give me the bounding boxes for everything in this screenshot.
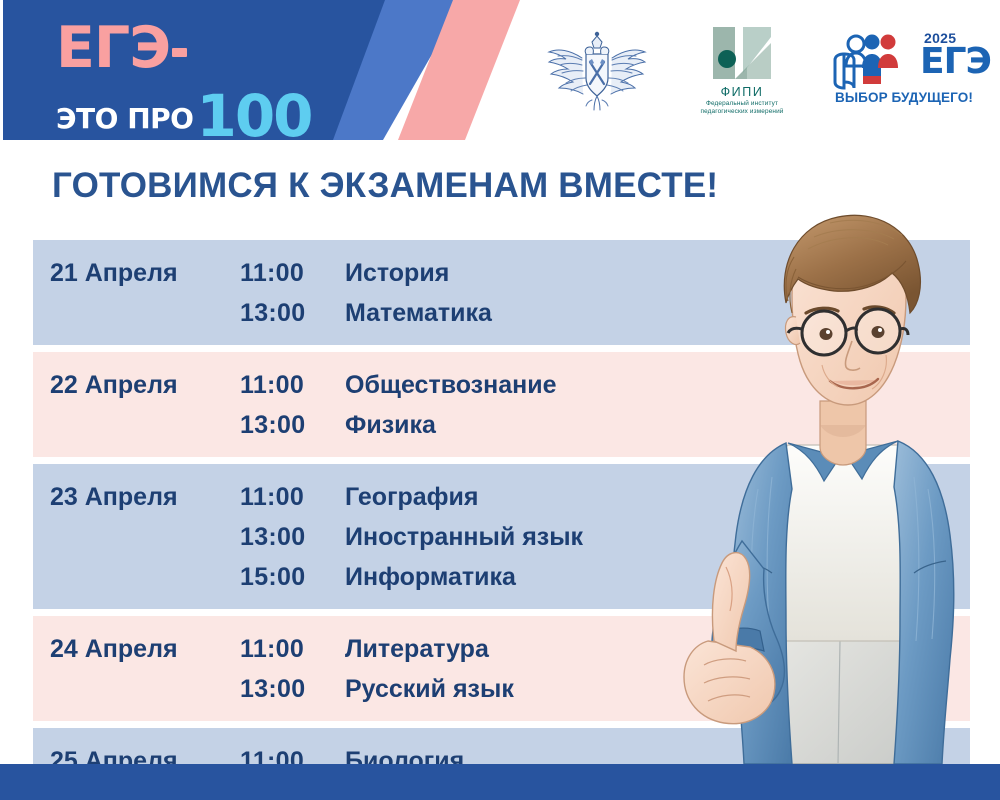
session-subject: Обществознание — [345, 365, 557, 405]
schedule-session: 11:00География — [240, 477, 970, 517]
schedule-table: 21 Апреля11:00История13:00Математика22 А… — [33, 240, 970, 800]
schedule-row-inner: 23 Апреля11:00География13:00Иностранный … — [33, 477, 970, 597]
schedule-session-list: 11:00Обществознание13:00Физика — [240, 365, 970, 445]
schedule-row: 21 Апреля11:00История13:00Математика — [33, 240, 970, 345]
schedule-session: 11:00История — [240, 253, 970, 293]
session-subject: Литература — [345, 629, 489, 669]
schedule-session-list: 11:00История13:00Математика — [240, 253, 970, 333]
session-subject: Математика — [345, 293, 492, 333]
brand-lockup: ЕГЭ ЭТО ПРО 100 — [56, 22, 316, 118]
fipi-subtitle-text: Федеральный институт педагогических изме… — [690, 100, 794, 116]
header-logo-group: ФИПИ Федеральный институт педагогических… — [542, 24, 982, 116]
rosobrnadzor-logo — [542, 28, 652, 112]
poster-header: ЕГЭ ЭТО ПРО 100 — [3, 0, 1000, 140]
schedule-session-list: 11:00Литература13:00Русский язык — [240, 629, 970, 709]
schedule-row: 24 Апреля11:00Литература13:00Русский язы… — [33, 616, 970, 721]
session-time: 13:00 — [240, 293, 345, 333]
brand-etopro-text: ЭТО ПРО — [56, 102, 193, 135]
session-time: 13:00 — [240, 405, 345, 445]
ege-2025-word-text: ЕГЭ — [920, 41, 991, 82]
schedule-session: 11:00Литература — [240, 629, 970, 669]
brand-top-line: ЕГЭ — [56, 22, 187, 74]
footer-bar — [0, 764, 1000, 800]
session-time: 11:00 — [240, 629, 345, 669]
schedule-row-inner: 22 Апреля11:00Обществознание13:00Физика — [33, 365, 970, 445]
session-subject: Физика — [345, 405, 436, 445]
schedule-session: 11:00Обществознание — [240, 365, 970, 405]
schedule-session: 13:00Русский язык — [240, 669, 970, 709]
schedule-session: 15:00Информатика — [240, 557, 970, 597]
ege-2025-logo: 2025 ЕГЭ ВЫБОР БУДУЩЕГО! — [832, 28, 982, 112]
session-subject: Русский язык — [345, 669, 514, 709]
rosobrnadzor-emblem-icon — [542, 99, 652, 116]
session-subject: Иностранный язык — [345, 517, 583, 557]
schedule-session: 13:00Математика — [240, 293, 970, 333]
page-title: ГОТОВИМСЯ К ЭКЗАМЕНАМ ВМЕСТЕ! — [52, 166, 718, 206]
session-time: 15:00 — [240, 557, 345, 597]
schedule-session: 13:00Иностранный язык — [240, 517, 970, 557]
schedule-row: 23 Апреля11:00География13:00Иностранный … — [33, 464, 970, 609]
fipi-title-text: ФИПИ — [690, 85, 794, 99]
session-time: 13:00 — [240, 517, 345, 557]
fipi-logo: ФИПИ Федеральный институт педагогических… — [690, 27, 794, 113]
schedule-date: 22 Апреля — [50, 365, 240, 405]
session-time: 11:00 — [240, 477, 345, 517]
schedule-row-inner: 24 Апреля11:00Литература13:00Русский язы… — [33, 629, 970, 709]
brand-dash-icon — [172, 48, 187, 57]
session-time: 13:00 — [240, 669, 345, 709]
schedule-date: 21 Апреля — [50, 253, 240, 293]
session-time: 11:00 — [240, 365, 345, 405]
poster-root: ЕГЭ ЭТО ПРО 100 — [0, 0, 1000, 800]
session-subject: История — [345, 253, 449, 293]
schedule-row-inner: 21 Апреля11:00История13:00Математика — [33, 253, 970, 333]
brand-hundred-text: 100 — [196, 82, 311, 140]
brand-ege-text: ЕГЭ — [56, 22, 170, 74]
schedule-row: 22 Апреля11:00Обществознание13:00Физика — [33, 352, 970, 457]
schedule-date: 24 Апреля — [50, 629, 240, 669]
schedule-session: 13:00Физика — [240, 405, 970, 445]
session-time: 11:00 — [240, 253, 345, 293]
schedule-session-list: 11:00География13:00Иностранный язык15:00… — [240, 477, 970, 597]
schedule-date: 23 Апреля — [50, 477, 240, 517]
fipi-mark-icon — [690, 27, 794, 84]
brand-bottom-line: ЭТО ПРО 100 — [56, 74, 312, 140]
session-subject: Информатика — [345, 557, 516, 597]
ege-2025-tagline-text: ВЫБОР БУДУЩЕГО! — [835, 90, 973, 105]
session-subject: География — [345, 477, 479, 517]
